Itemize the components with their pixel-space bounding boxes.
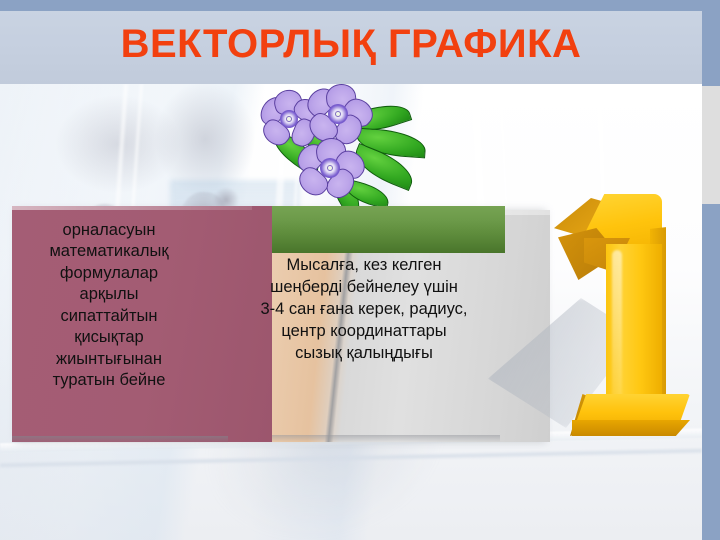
text-line: математикалық xyxy=(14,241,204,262)
flower-stamen-icon xyxy=(327,165,333,171)
text-line: туратын бейне xyxy=(14,370,204,391)
text-line: сызық қалыңдығы xyxy=(228,342,500,364)
numeral-base-front xyxy=(572,420,690,436)
chevron-banner: орналасуын математикалық формулалар арқы… xyxy=(0,196,560,446)
chevron-second-text: Мысалға, кез келген шеңберді бейнелеу үш… xyxy=(228,254,500,365)
right-accent-bar-gray xyxy=(702,86,720,204)
numeral-one-icon xyxy=(540,188,700,450)
text-line: шеңберді бейнелеу үшін xyxy=(228,276,500,298)
text-line: арқылы xyxy=(14,284,204,305)
text-line: Мысалға, кез келген xyxy=(228,254,500,276)
chevron-first-highlight xyxy=(12,206,252,210)
right-accent-bar-top xyxy=(702,0,720,86)
chevron-first-shadow xyxy=(12,436,228,443)
flower-stamen-icon xyxy=(335,111,341,117)
text-line: центр координаттары xyxy=(228,320,500,342)
text-line: жиынтығынан xyxy=(14,349,204,370)
text-line: 3-4 сан ғана керек, радиус, xyxy=(228,298,500,320)
text-line: сипаттайтын xyxy=(14,306,204,327)
text-line: орналасуын xyxy=(14,220,204,241)
numeral-highlight xyxy=(612,250,622,410)
chevron-first-text: орналасуын математикалық формулалар арқы… xyxy=(14,220,204,392)
top-accent-strip xyxy=(0,0,720,11)
flower-stamen-icon xyxy=(286,116,292,122)
right-accent-bar-bottom xyxy=(702,204,720,540)
page-title: ВЕКТОРЛЫҚ ГРАФИКА xyxy=(0,22,702,67)
text-line: формулалар xyxy=(14,263,204,284)
text-line: қисықтар xyxy=(14,327,204,348)
slide-canvas: ВЕКТОРЛЫҚ ГРАФИКА xyxy=(0,0,720,540)
numeral-one-graphic xyxy=(540,188,700,450)
